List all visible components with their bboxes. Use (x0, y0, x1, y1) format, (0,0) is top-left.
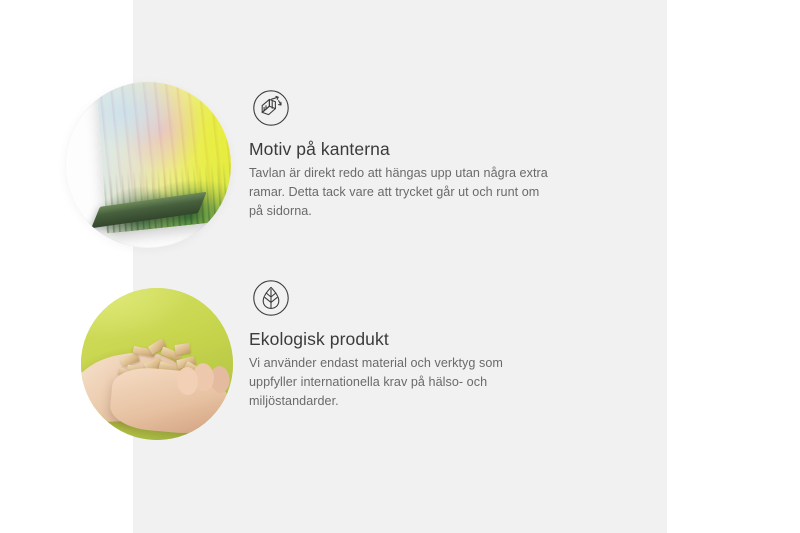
canvas-wrapped-edges-icon (249, 86, 293, 130)
white-circle-backdrop (65, 82, 231, 248)
feature-description: Vi använder endast material och verktyg … (249, 354, 549, 411)
feature-row: Motiv på kanterna Tavlan är direkt redo … (63, 80, 549, 252)
green-circle-photo (81, 288, 233, 440)
feature-description: Tavlan är direkt redo att hängas upp uta… (249, 164, 549, 221)
leaf-icon (249, 276, 293, 320)
hands-holding-wood-chips-image (63, 270, 235, 442)
feature-text-block: Motiv på kanterna Tavlan är direkt redo … (249, 80, 549, 221)
canvas-print (101, 82, 231, 226)
canvas-print-on-white-disc-image (63, 80, 235, 252)
feature-title: Ekologisk produkt (249, 329, 549, 350)
fingers (176, 360, 233, 408)
feature-title: Motiv på kanterna (249, 139, 549, 160)
product-feature-page: Motiv på kanterna Tavlan är direkt redo … (0, 0, 800, 533)
feature-text-block: Ekologisk produkt Vi använder endast mat… (249, 270, 549, 411)
feature-row: Ekologisk produkt Vi använder endast mat… (63, 270, 549, 442)
